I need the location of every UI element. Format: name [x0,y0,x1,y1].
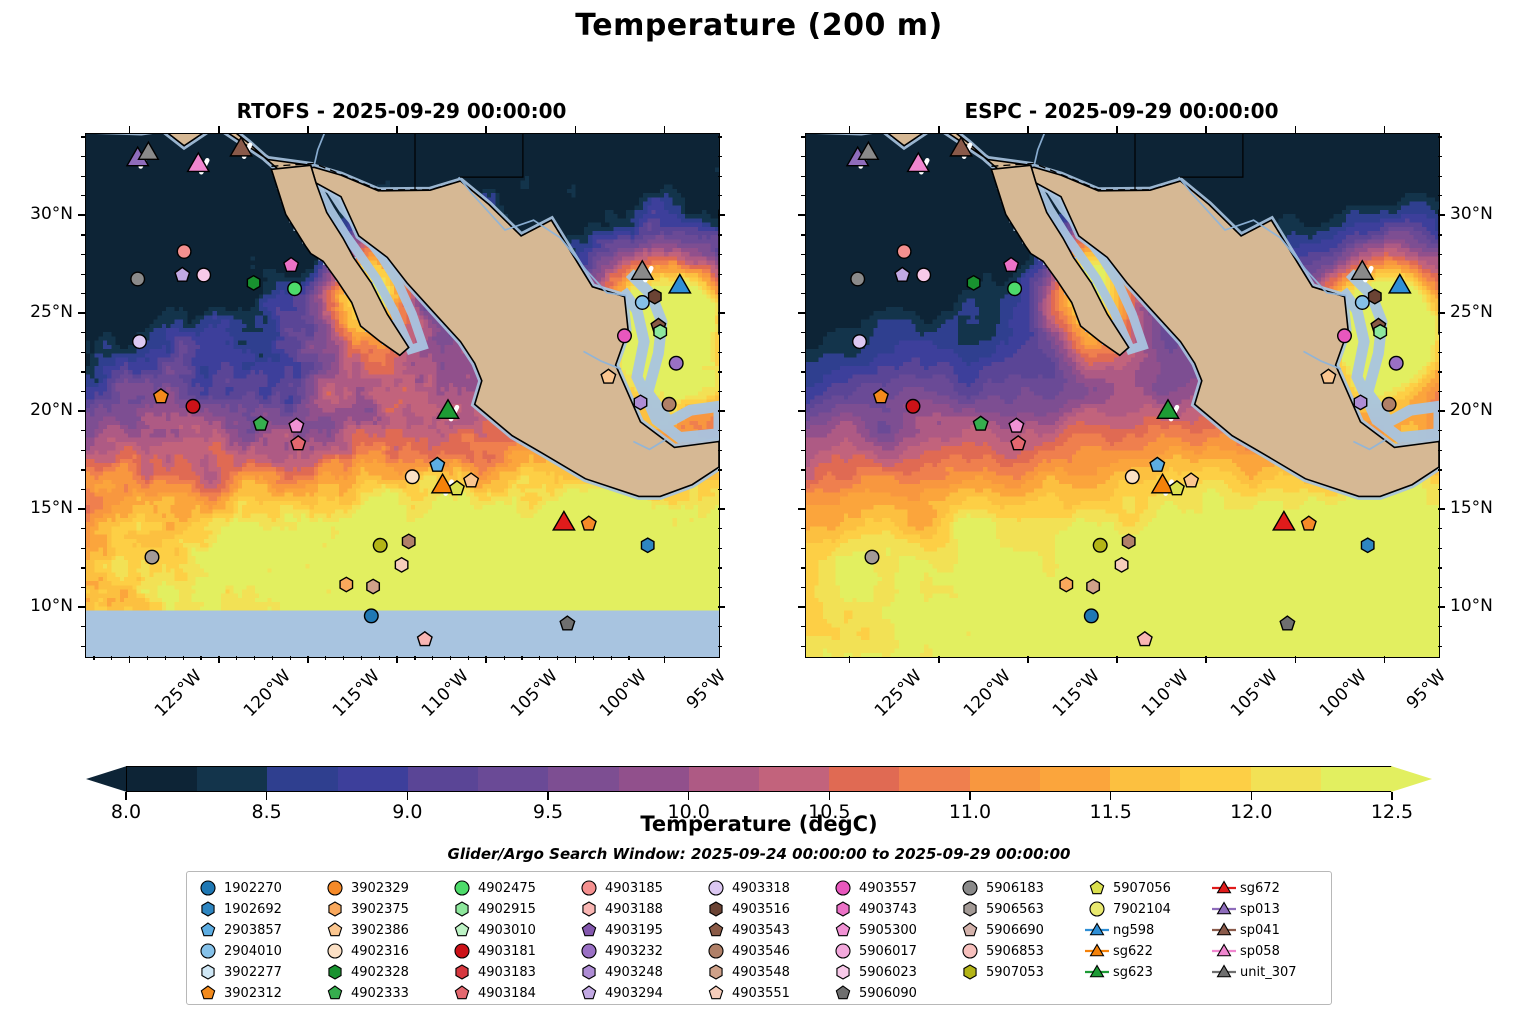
colorbar-extend-high [1391,766,1432,792]
xtick-minor [183,656,184,660]
ytick-minor-right [1438,626,1442,627]
float-marker-icon [449,983,475,1003]
legend-item-label: 5906563 [983,902,1044,917]
legend-item-label: 4903183 [475,965,536,980]
legend-item[interactable]: 4903743 [830,899,957,919]
legend-item[interactable]: 1902692 [195,899,322,919]
float-marker-icon [322,899,348,919]
ytick-minor-right [718,587,722,588]
legend-item[interactable]: 2904010 [195,941,322,961]
xtick-minor [272,656,273,660]
legend-item-label: 4903248 [602,965,663,980]
ytick-mark-right [1438,606,1445,608]
float-marker-icon [195,899,221,919]
legend-item[interactable]: 4902328 [322,962,449,982]
ytick-minor [81,567,85,568]
ytick-minor [801,391,805,392]
colorbar-tick [688,792,690,800]
ytick-minor-right [718,469,722,470]
ytick-minor [801,646,805,647]
ytick-minor-right [718,450,722,451]
legend-item-label: 1902692 [221,902,282,917]
legend-item[interactable]: 5906023 [830,962,957,982]
xtick-minor [593,656,594,660]
legend-item[interactable]: 4903318 [703,878,830,898]
xtick-minor [325,656,326,660]
ytick-minor-right [1438,352,1442,353]
xtick-minor [432,656,433,660]
legend-item[interactable]: 5907056 [1084,878,1211,898]
ytick-minor [81,274,85,275]
float-marker-icon [957,920,983,940]
legend-item[interactable]: 2903857 [195,920,322,940]
legend-item-label: 4902316 [348,944,409,959]
ytick-minor [801,430,805,431]
ytick-minor [801,469,805,470]
xtick-mark [1027,656,1029,663]
glider-marker-icon [1211,920,1237,940]
legend-item-label: sg622 [1110,944,1153,959]
float-marker-icon [195,983,221,1003]
float-marker-icon [449,899,475,919]
legend-item[interactable]: 4903232 [576,941,703,961]
colorbar-tick [1251,792,1253,800]
legend-item-label: 5905300 [856,923,917,938]
legend-item-label: 4903185 [602,881,663,896]
xtick-mark-top [664,126,666,133]
ytick-mark-right [1438,214,1445,216]
legend-item-label: 4903195 [602,923,663,938]
glider-marker-icon [1211,878,1237,898]
legend-item[interactable]: 5906563 [957,899,1084,919]
legend-column: 5907056 7902104 ng598 sg622 sg623 [1084,878,1211,1000]
ytick-minor-right [1438,391,1442,392]
xtick-mark-top [1205,126,1207,133]
xtick-minor [521,656,522,660]
ytick-minor-right [1438,332,1442,333]
glider-marker-icon [1084,941,1110,961]
legend-item-label: 5906690 [983,923,1044,938]
ytick-minor-right [718,548,722,549]
float-marker-icon [195,920,221,940]
glider-marker-icon [1084,920,1110,940]
colorbar-segment [267,767,337,791]
colorbar-tick [969,792,971,800]
ytick-minor [81,176,85,177]
ytick-mark [78,410,85,412]
legend-column: 3902329 3902375 3902386 4902316 4902328 … [322,878,449,1000]
legend-item[interactable]: 4902915 [449,899,576,919]
ytick-minor [81,626,85,627]
legend-item-label: 5906853 [983,944,1044,959]
legend-item[interactable]: 4902316 [322,941,449,961]
legend-item-label: 4903232 [602,944,663,959]
float-marker-icon [830,941,856,961]
float-marker-icon [957,962,983,982]
legend-item-label: 5906090 [856,986,917,1001]
float-marker-icon [703,983,729,1003]
legend-column: 4903557 4903743 5905300 5906017 5906023 … [830,878,957,1000]
figure-root: Temperature (200 m) RTOFS - 2025-09-29 0… [0,0,1518,1015]
legend-item[interactable]: 3902312 [195,983,322,1003]
legend-item[interactable]: sp013 [1211,899,1337,919]
legend-item-label: unit_307 [1237,965,1297,980]
legend-item[interactable]: 4903185 [576,878,703,898]
colorbar-tick [407,792,409,800]
xtick-mark-top [129,126,131,133]
ytick-minor-right [1438,293,1442,294]
legend-item[interactable]: 4903010 [449,920,576,940]
ytick-minor [81,254,85,255]
colorbar-segment [970,767,1040,791]
legend-item-label: 4903516 [729,902,790,917]
ytick-label-right: 20°N [1450,400,1493,420]
float-marker-icon [195,878,221,898]
legend-item-label: 5907056 [1110,881,1171,896]
legend-item-label: 4903543 [729,923,790,938]
ytick-minor-right [718,195,722,196]
ytick-minor [801,176,805,177]
ytick-minor-right [718,626,722,627]
legend-item-label: sp058 [1237,944,1280,959]
xtick-label: 115°W [1049,666,1104,721]
xtick-minor [93,656,94,660]
ytick-minor-right [718,646,722,647]
ytick-mark-right [718,214,725,216]
colorbar-segment [197,767,267,791]
colorbar-segment [478,767,548,791]
legend-item[interactable]: 4903548 [703,962,830,982]
colorbar-segment [829,767,899,791]
ytick-label-right: 10°N [1450,596,1493,616]
ytick-minor-right [718,567,722,568]
legend-item-label: 4902915 [475,902,536,917]
legend-item[interactable]: 5905300 [830,920,957,940]
ytick-minor [81,587,85,588]
float-marker-icon [703,941,729,961]
xtick-minor [290,656,291,660]
xtick-minor [200,656,201,660]
colorbar-segment [1251,767,1321,791]
legend-item[interactable]: sg672 [1211,878,1337,898]
ytick-label-right: 15°N [1450,498,1493,518]
legend-item-label: 5906017 [856,944,917,959]
legend-item[interactable]: 3902386 [322,920,449,940]
legend-item-label: 4903551 [729,986,790,1001]
xtick-mark [485,656,487,663]
colorbar-segment [338,767,408,791]
xtick-mark-top [1027,126,1029,133]
ytick-minor [81,646,85,647]
legend-item[interactable]: 4903184 [449,983,576,1003]
ytick-minor [801,136,805,137]
ytick-minor-right [718,352,722,353]
xtick-mark-top [849,126,851,133]
float-marker-icon [703,899,729,919]
legend-item[interactable]: 4903551 [703,983,830,1003]
legend-item[interactable]: 4903546 [703,941,830,961]
ytick-minor-right [718,430,722,431]
ytick-minor [81,548,85,549]
legend-item-label: 4903557 [856,881,917,896]
ytick-minor [801,274,805,275]
ytick-minor [801,450,805,451]
legend-item-label: 3902277 [221,965,282,980]
ytick-mark-right [718,312,725,314]
legend-column: 4903185 4903188 4903195 4903232 4903248 … [576,878,703,1000]
float-marker-icon [195,941,221,961]
legend-item[interactable]: ng598 [1084,920,1211,940]
ytick-minor-right [718,176,722,177]
ytick-minor-right [718,274,722,275]
legend-item[interactable]: 5906017 [830,941,957,961]
ytick-minor-right [1438,274,1442,275]
ytick-mark-right [1438,410,1445,412]
legend-item-label: 2903857 [221,923,282,938]
ytick-minor-right [1438,587,1442,588]
ytick-minor-right [1438,176,1442,177]
legend-item[interactable]: 3902329 [322,878,449,898]
ytick-mark [798,312,805,314]
colorbar-segment [127,767,197,791]
glider-marker-icon [1211,962,1237,982]
float-marker-icon [449,962,475,982]
legend-column: 4902475 4902915 4903010 4903181 4903183 … [449,878,576,1000]
float-marker-icon [322,878,348,898]
colorbar-body [126,766,1392,792]
legend-item[interactable]: unit_307 [1211,962,1337,982]
float-marker-icon [449,920,475,940]
ytick-minor [81,136,85,137]
ytick-minor [801,626,805,627]
ytick-minor [81,293,85,294]
colorbar-tick [547,792,549,800]
ytick-minor [801,371,805,372]
ytick-minor [801,293,805,294]
xtick-mark [849,656,851,663]
ytick-minor [801,567,805,568]
legend-item-label: 3902312 [221,986,282,1001]
float-marker-icon [830,983,856,1003]
legend-item-label: 4902328 [348,965,409,980]
colorbar [86,766,1432,792]
legend-item[interactable]: 5906853 [957,941,1084,961]
figure-suptitle: Temperature (200 m) [0,8,1518,43]
colorbar-segment [689,767,759,791]
ytick-minor [801,489,805,490]
xtick-mark [307,656,309,663]
legend-item[interactable]: 3902375 [322,899,449,919]
colorbar-segment [759,767,829,791]
ytick-minor-right [718,371,722,372]
xtick-label: 105°W [507,666,562,721]
map-panel-espc[interactable] [805,133,1440,658]
ytick-mark [78,508,85,510]
legend-item-label: 4903743 [856,902,917,917]
panel-title-rtofs: RTOFS - 2025-09-29 00:00:00 [85,99,718,123]
xtick-minor [414,656,415,660]
ytick-minor-right [718,391,722,392]
colorbar-extend-low [86,766,127,792]
ytick-label-right: 25°N [1450,302,1493,322]
float-marker-icon [576,920,602,940]
ytick-minor-right [718,489,722,490]
legend-item[interactable]: 4903181 [449,941,576,961]
legend-item-label: 5906023 [856,965,917,980]
float-marker-icon [703,920,729,940]
xtick-mark-top [575,126,577,133]
legend-item-label: 4903188 [602,902,663,917]
legend-item[interactable]: 3902277 [195,962,322,982]
ytick-mark [798,606,805,608]
legend-item-label: sg623 [1110,965,1153,980]
xtick-minor [504,656,505,660]
float-marker-icon [957,899,983,919]
legend-item-label: 4903546 [729,944,790,959]
xtick-minor [147,656,148,660]
float-marker-icon [449,878,475,898]
float-marker-icon [576,899,602,919]
legend-item[interactable]: 4903195 [576,920,703,940]
ytick-mark-right [1438,508,1445,510]
ytick-minor [81,234,85,235]
map-panel-rtofs[interactable] [85,133,720,658]
xtick-minor [111,656,112,660]
legend-item-empty [1084,983,1211,1003]
legend-item[interactable]: 1902270 [195,878,322,898]
xtick-label: 110°W [418,666,473,721]
ytick-minor-right [718,528,722,529]
ytick-mark [798,508,805,510]
xtick-mark-top [485,126,487,133]
ytick-minor [81,332,85,333]
ytick-minor [801,234,805,235]
float-marker-icon [1084,878,1110,898]
map-canvas-rtofs [86,134,719,657]
float-marker-icon [830,878,856,898]
ytick-mark-right [718,410,725,412]
xtick-mark-top [938,126,940,133]
legend-item[interactable]: 4903183 [449,962,576,982]
ytick-label-right: 30°N [1450,204,1493,224]
legend-item[interactable]: 4903516 [703,899,830,919]
legend-item-label: 5906183 [983,881,1044,896]
ytick-minor-right [718,234,722,235]
xtick-minor [468,656,469,660]
xtick-mark-top [307,126,309,133]
float-marker-icon [957,878,983,898]
legend-item[interactable]: 4903543 [703,920,830,940]
ytick-label-left: 25°N [0,302,73,322]
legend-column: 4903318 4903516 4903543 4903546 4903548 … [703,878,830,1000]
ytick-minor-right [1438,646,1442,647]
ytick-label-left: 10°N [0,596,73,616]
ytick-minor-right [1438,528,1442,529]
xtick-mark [1384,656,1386,663]
legend-item[interactable]: 5906690 [957,920,1084,940]
xtick-label: 95°W [682,666,729,713]
ytick-mark-right [718,508,725,510]
xtick-mark [1295,656,1297,663]
xtick-minor [379,656,380,660]
xtick-label: 100°W [596,666,651,721]
legend-item-label: 4902475 [475,881,536,896]
ytick-minor [81,195,85,196]
legend-item[interactable]: 7902104 [1084,899,1211,919]
xtick-label: 105°W [1227,666,1282,721]
ytick-minor-right [718,136,722,137]
xtick-label: 110°W [1138,666,1193,721]
float-marker-icon [195,962,221,982]
legend-item[interactable]: 5906183 [957,878,1084,898]
legend-item[interactable]: 4903294 [576,983,703,1003]
legend-item[interactable]: 4902333 [322,983,449,1003]
ytick-minor-right [1438,489,1442,490]
empty-icon [1084,983,1110,1003]
ytick-minor-right [1438,567,1442,568]
float-marker-icon [322,941,348,961]
legend-item-label: 4903184 [475,986,536,1001]
xtick-mark-top [1116,126,1118,133]
search-window-text: Glider/Argo Search Window: 2025-09-24 00… [0,845,1518,863]
legend-item-label: sp041 [1237,923,1280,938]
xtick-mark [575,656,577,663]
ytick-minor-right [1438,469,1442,470]
legend-item[interactable]: 4902475 [449,878,576,898]
xtick-label: 125°W [870,666,925,721]
legend-item[interactable]: 4903188 [576,899,703,919]
xtick-label: 95°W [1402,666,1449,713]
float-marker-icon [322,962,348,982]
ytick-minor [81,489,85,490]
float-marker-icon [449,941,475,961]
colorbar-tick [266,792,268,800]
legend-item[interactable]: 4903248 [576,962,703,982]
ytick-minor-right [718,156,722,157]
legend[interactable]: 1902270 1902692 2903857 2904010 3902277 … [186,871,1332,1005]
legend-item[interactable]: sp058 [1211,941,1337,961]
ytick-minor [81,450,85,451]
ytick-minor [81,371,85,372]
ytick-mark [798,410,805,412]
legend-item[interactable]: sg622 [1084,941,1211,961]
legend-item[interactable]: 5906090 [830,983,957,1003]
legend-item[interactable]: sp041 [1211,920,1337,940]
ytick-minor [81,430,85,431]
legend-item[interactable]: sg623 [1084,962,1211,982]
ytick-minor [801,156,805,157]
xtick-label: 120°W [960,666,1015,721]
float-marker-icon [703,962,729,982]
xtick-label: 100°W [1316,666,1371,721]
xtick-minor [557,656,558,660]
float-marker-icon [830,962,856,982]
xtick-mark [129,656,131,663]
legend-item-label: 4903318 [729,881,790,896]
float-marker-icon [576,962,602,982]
float-marker-icon [703,878,729,898]
legend-item[interactable]: 5907053 [957,962,1084,982]
legend-item-label: 4903010 [475,923,536,938]
ytick-label-left: 30°N [0,204,73,224]
float-marker-icon [576,878,602,898]
legend-item[interactable]: 4903557 [830,878,957,898]
xtick-mark-top [396,126,398,133]
xtick-minor [236,656,237,660]
map-canvas-espc [806,134,1439,657]
ytick-minor [81,391,85,392]
float-marker-icon [830,899,856,919]
